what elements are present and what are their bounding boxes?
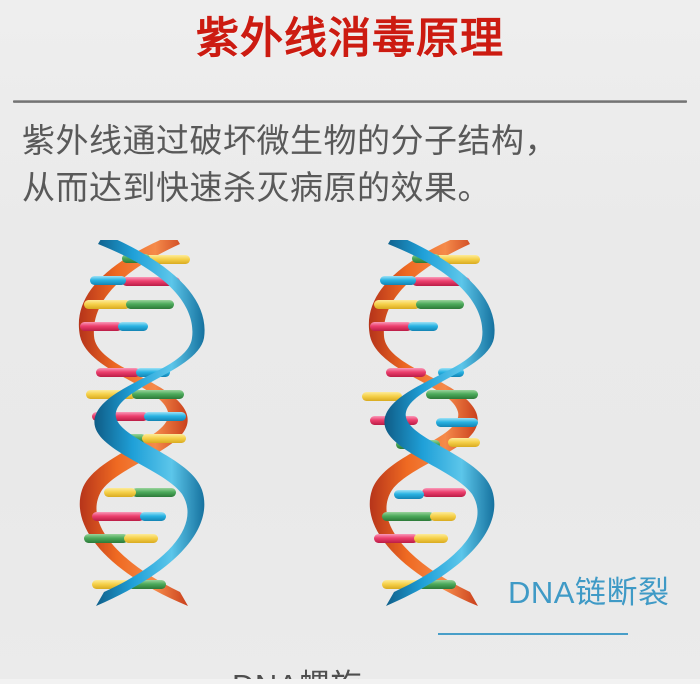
intact-dna-helix	[62, 240, 222, 612]
header-divider	[13, 100, 687, 103]
page-title: 紫外线消毒原理	[0, 16, 700, 63]
base-pairs-broken	[362, 254, 480, 589]
label-dna-break: DNA链断裂	[508, 577, 669, 608]
bottom-edge	[0, 679, 700, 684]
break-pointer-line	[438, 633, 628, 635]
broken-dna-helix	[352, 240, 512, 612]
dna-diagram: DNA螺旋 DNA链断裂 （照射前） （照射后）	[0, 232, 700, 684]
intro-line-1: 紫外线通过破坏微生物的分子结构，	[22, 118, 682, 165]
dna-helix-svg-intact	[62, 240, 222, 612]
intro-paragraph: 紫外线通过破坏微生物的分子结构， 从而达到快速杀灭病原的效果。	[22, 118, 682, 212]
poster-root: 紫外线消毒原理 紫外线通过破坏微生物的分子结构， 从而达到快速杀灭病原的效果。	[0, 0, 700, 684]
dna-helix-svg-broken	[352, 240, 512, 612]
intro-line-2: 从而达到快速杀灭病原的效果。	[22, 165, 682, 212]
